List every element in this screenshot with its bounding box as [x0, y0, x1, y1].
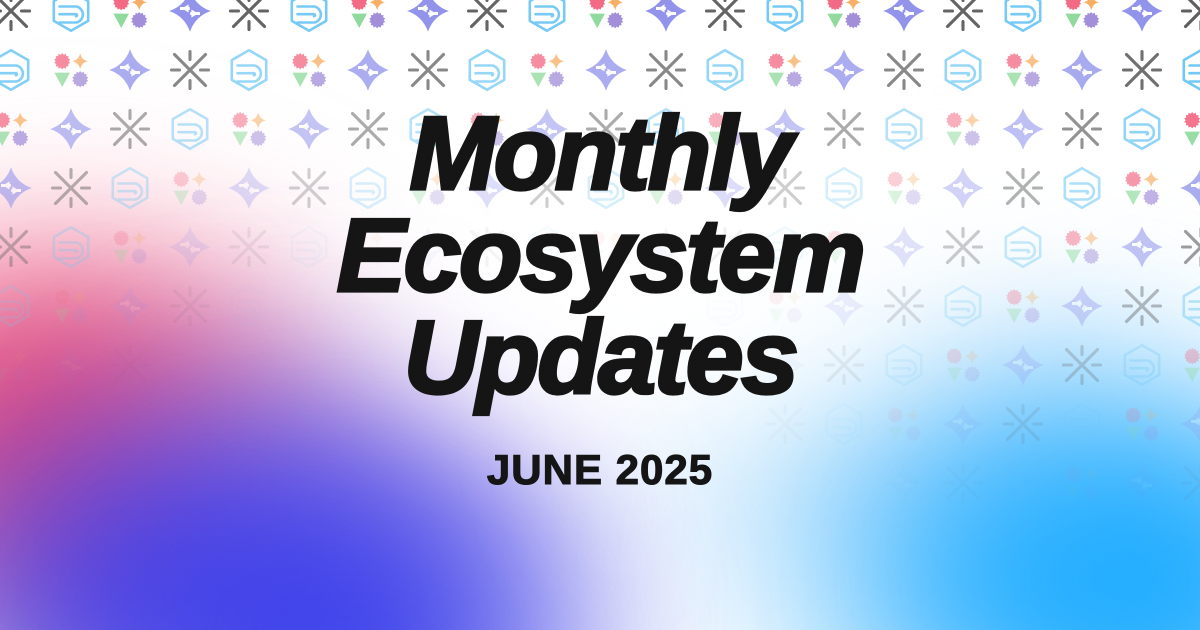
issue-date-label: JUNE 2025	[0, 410, 1200, 494]
page-title: Monthly Ecosystem Updates	[0, 0, 1200, 410]
banner-text-block: Monthly Ecosystem Updates JUNE 2025	[0, 0, 1200, 494]
monthly-ecosystem-updates-banner: Monthly Ecosystem Updates JUNE 2025	[0, 0, 1200, 630]
